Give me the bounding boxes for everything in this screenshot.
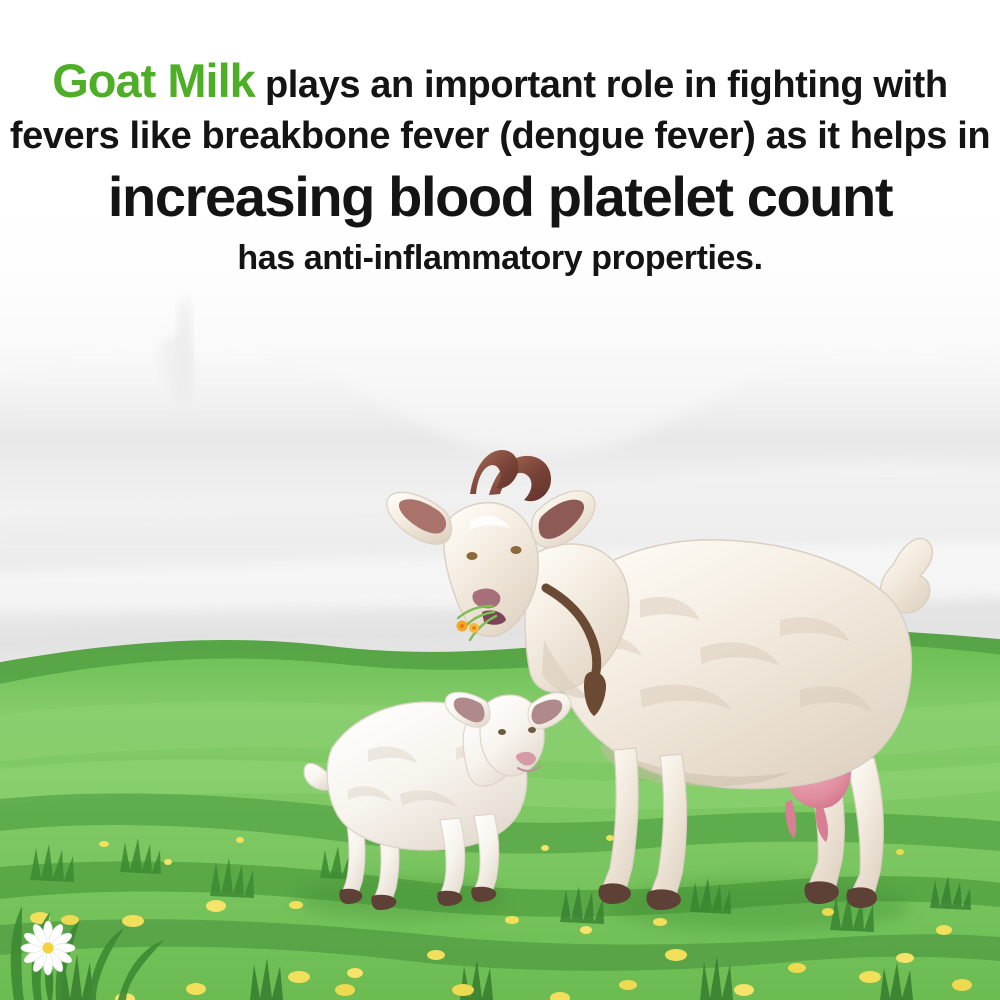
- daisy-center: [43, 943, 54, 954]
- headline-line-4: has anti-inflammatory properties.: [0, 232, 1000, 284]
- daisy-flower: [21, 921, 75, 1000]
- headline-line-3: increasing blood platelet count: [0, 162, 1000, 232]
- goat-milk-infographic-poster: Goat Milk plays an important role in fig…: [0, 0, 1000, 1000]
- headline-line-1-rest: plays an important role in fighting with: [255, 64, 948, 106]
- headline-line-1: Goat Milk plays an important role in fig…: [0, 56, 1000, 110]
- brand-name: Goat Milk: [52, 54, 255, 107]
- headline-line-2: fevers like breakbone fever (dengue feve…: [0, 110, 1000, 162]
- headline-text-block: Goat Milk plays an important role in fig…: [0, 56, 1000, 284]
- yellow-buttercups: [30, 835, 972, 1000]
